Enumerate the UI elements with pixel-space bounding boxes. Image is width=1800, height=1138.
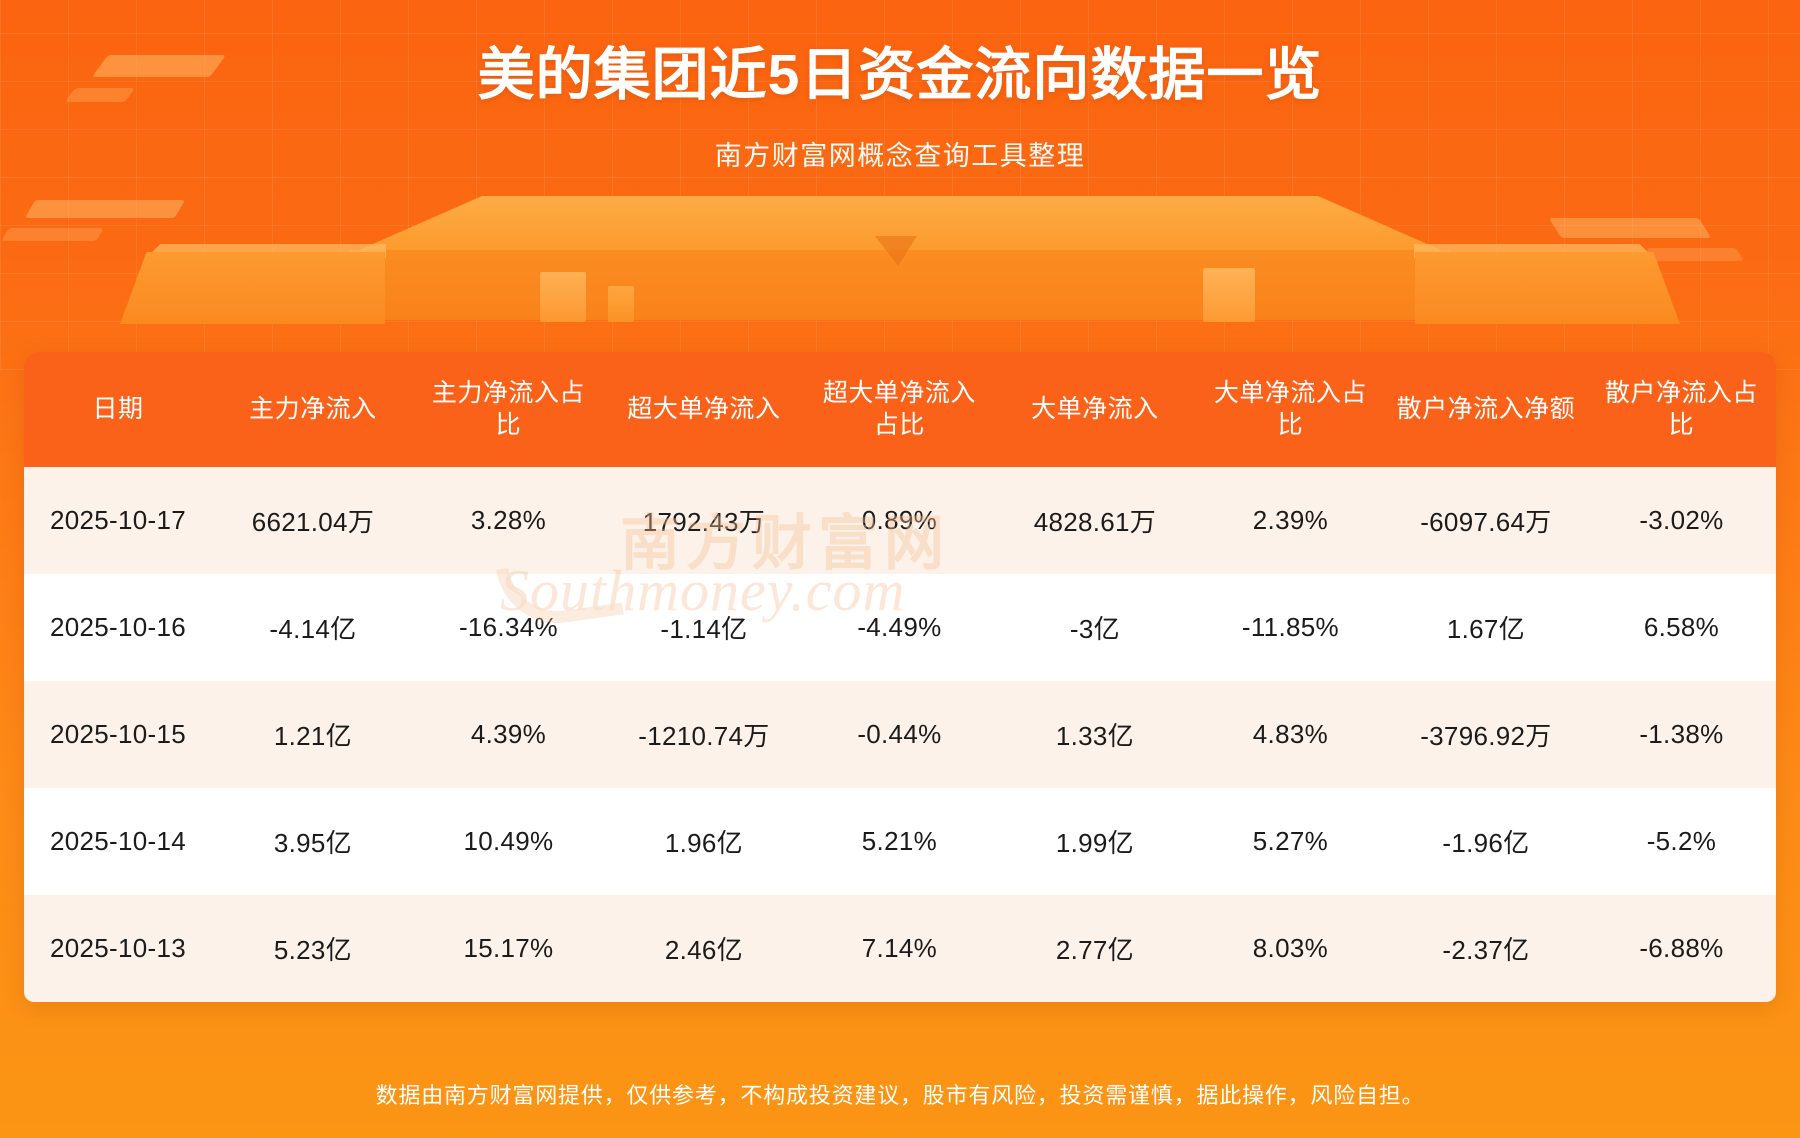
cell-date: 2025-10-14	[24, 788, 212, 895]
cell-main-net: 3.95亿	[212, 788, 414, 895]
podium-cube-b	[608, 286, 634, 322]
column-header-main-net: 主力净流入	[212, 352, 414, 467]
cell-retail-net: -1.96亿	[1385, 788, 1587, 895]
light-streak-right-2	[1646, 248, 1744, 261]
cell-xl-pct: 5.21%	[805, 788, 994, 895]
cell-lg-net: -3亿	[994, 574, 1196, 681]
podium-cube-a	[540, 272, 586, 322]
podium-cube-c	[1203, 268, 1255, 322]
cell-main-net: -4.14亿	[212, 574, 414, 681]
podium-right	[1415, 252, 1680, 324]
hero-section: 美的集团近5日资金流向数据一览 南方财富网概念查询工具整理	[0, 0, 1800, 173]
cell-main-pct: 15.17%	[414, 895, 603, 1002]
cell-main-net: 1.21亿	[212, 681, 414, 788]
table-body: 2025-10-17 6621.04万 3.28% 1792.43万 0.89%…	[24, 467, 1776, 1002]
cell-retail-pct: -3.02%	[1587, 467, 1776, 574]
table-row: 2025-10-13 5.23亿 15.17% 2.46亿 7.14% 2.77…	[24, 895, 1776, 1002]
cell-retail-pct: -1.38%	[1587, 681, 1776, 788]
cell-xl-net: -1.14亿	[603, 574, 805, 681]
table-row: 2025-10-14 3.95亿 10.49% 1.96亿 5.21% 1.99…	[24, 788, 1776, 895]
infographic-page: 美的集团近5日资金流向数据一览 南方财富网概念查询工具整理 日期 主力净流入 主…	[0, 0, 1800, 1138]
cell-retail-net: 1.67亿	[1385, 574, 1587, 681]
column-header-retail-pct: 散户净流入占比	[1587, 352, 1776, 467]
column-header-xl-net: 超大单净流入	[603, 352, 805, 467]
column-header-date: 日期	[24, 352, 212, 467]
cell-date: 2025-10-13	[24, 895, 212, 1002]
cell-retail-net: -6097.64万	[1385, 467, 1587, 574]
table-row: 2025-10-15 1.21亿 4.39% -1210.74万 -0.44% …	[24, 681, 1776, 788]
footer-disclaimer: 数据由南方财富网提供，仅供参考，不构成投资建议，股市有风险，投资需谨慎，据此操作…	[0, 1078, 1800, 1110]
podium-left	[120, 252, 385, 324]
table-row: 2025-10-16 -4.14亿 -16.34% -1.14亿 -4.49% …	[24, 574, 1776, 681]
column-header-lg-pct: 大单净流入占比	[1196, 352, 1385, 467]
page-title: 美的集团近5日资金流向数据一览	[0, 40, 1800, 112]
podium-notch	[875, 236, 917, 266]
cell-retail-pct: -5.2%	[1587, 788, 1776, 895]
cell-xl-net: 1792.43万	[603, 467, 805, 574]
cell-lg-net: 4828.61万	[994, 467, 1196, 574]
table-head: 日期 主力净流入 主力净流入占比 超大单净流入 超大单净流入占比 大单净流入 大…	[24, 352, 1776, 467]
cell-xl-net: 1.96亿	[603, 788, 805, 895]
cell-date: 2025-10-16	[24, 574, 212, 681]
page-subtitle: 南方财富网概念查询工具整理	[0, 134, 1800, 173]
cell-lg-pct: 4.83%	[1196, 681, 1385, 788]
cell-main-pct: -16.34%	[414, 574, 603, 681]
column-header-main-pct: 主力净流入占比	[414, 352, 603, 467]
cell-main-pct: 4.39%	[414, 681, 603, 788]
table-header-row: 日期 主力净流入 主力净流入占比 超大单净流入 超大单净流入占比 大单净流入 大…	[24, 352, 1776, 467]
cell-lg-pct: 8.03%	[1196, 895, 1385, 1002]
podium-center-top	[350, 196, 1450, 254]
cell-retail-net: -2.37亿	[1385, 895, 1587, 1002]
column-header-lg-net: 大单净流入	[994, 352, 1196, 467]
light-streak-right-1	[1549, 218, 1711, 238]
light-streak-left-3	[25, 200, 185, 218]
shade-band-1	[1190, 242, 1310, 296]
cell-date: 2025-10-17	[24, 467, 212, 574]
cell-lg-pct: -11.85%	[1196, 574, 1385, 681]
table-row: 2025-10-17 6621.04万 3.28% 1792.43万 0.89%…	[24, 467, 1776, 574]
column-header-retail-net: 散户净流入净额	[1385, 352, 1587, 467]
podium-center-body	[350, 250, 1450, 320]
cell-main-net: 6621.04万	[212, 467, 414, 574]
cell-main-pct: 10.49%	[414, 788, 603, 895]
cell-date: 2025-10-15	[24, 681, 212, 788]
cell-xl-pct: -4.49%	[805, 574, 994, 681]
cell-xl-pct: 0.89%	[805, 467, 994, 574]
cell-main-net: 5.23亿	[212, 895, 414, 1002]
shade-band-2	[1455, 262, 1585, 312]
cell-lg-net: 1.33亿	[994, 681, 1196, 788]
cell-lg-net: 2.77亿	[994, 895, 1196, 1002]
light-streak-left-4	[1, 228, 104, 241]
cell-lg-net: 1.99亿	[994, 788, 1196, 895]
cell-xl-pct: -0.44%	[805, 681, 994, 788]
fund-flow-table: 日期 主力净流入 主力净流入占比 超大单净流入 超大单净流入占比 大单净流入 大…	[24, 352, 1776, 1002]
cell-retail-pct: 6.58%	[1587, 574, 1776, 681]
cell-lg-pct: 2.39%	[1196, 467, 1385, 574]
cell-main-pct: 3.28%	[414, 467, 603, 574]
column-header-xl-pct: 超大单净流入占比	[805, 352, 994, 467]
podium-left-top	[146, 244, 386, 258]
cell-xl-net: -1210.74万	[603, 681, 805, 788]
podium-right-top	[1414, 244, 1654, 258]
cell-xl-net: 2.46亿	[603, 895, 805, 1002]
fund-flow-table-card: 日期 主力净流入 主力净流入占比 超大单净流入 超大单净流入占比 大单净流入 大…	[24, 352, 1776, 1002]
cell-retail-net: -3796.92万	[1385, 681, 1587, 788]
cell-retail-pct: -6.88%	[1587, 895, 1776, 1002]
cell-xl-pct: 7.14%	[805, 895, 994, 1002]
cell-lg-pct: 5.27%	[1196, 788, 1385, 895]
